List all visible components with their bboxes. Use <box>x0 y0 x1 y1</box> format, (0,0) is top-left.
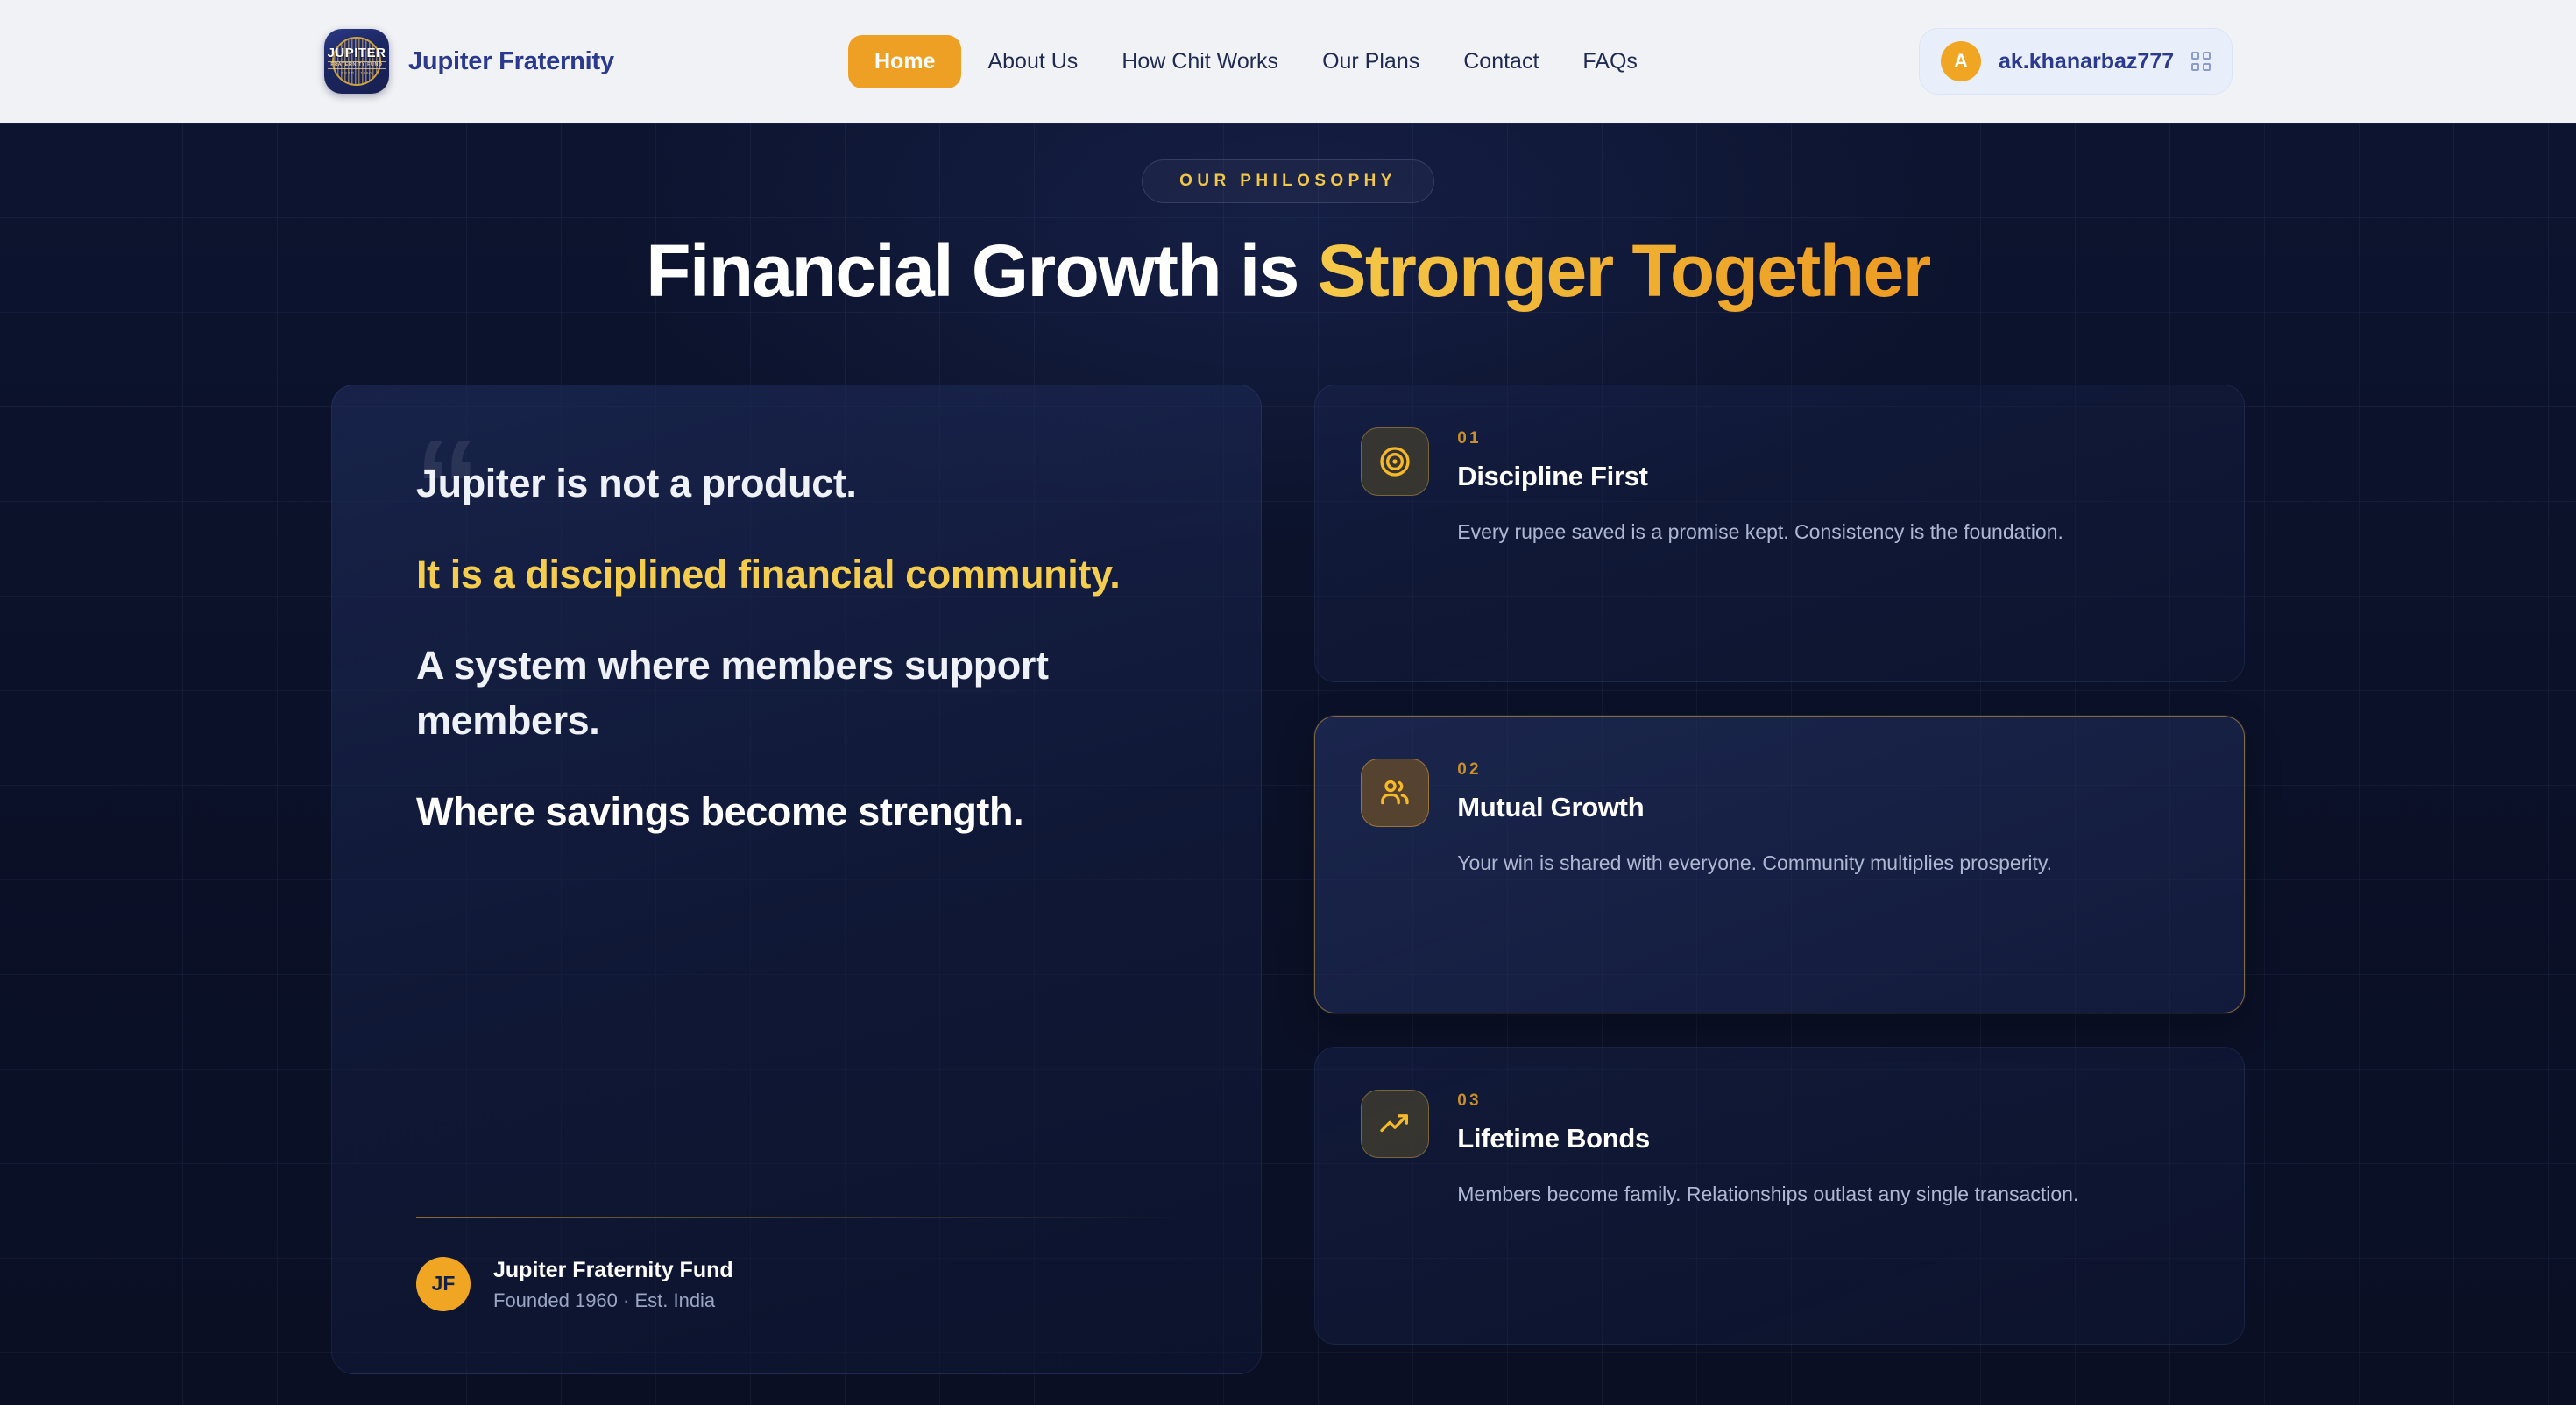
feature-card-lifetime-bonds[interactable]: 03 Lifetime Bonds Members become family.… <box>1314 1047 2245 1345</box>
quote-line-4: Where savings become strength. <box>416 784 1192 840</box>
logo-wordmark: JUPITER FRATERNITY FUND ESTD · 1960 <box>328 46 386 76</box>
site-header: JUPITER FRATERNITY FUND ESTD · 1960 Jupi… <box>0 0 2576 123</box>
user-account-chip[interactable]: A ak.khanarbaz777 <box>1919 28 2233 95</box>
users-icon <box>1361 759 1429 827</box>
quote-line-1: Jupiter is not a product. <box>416 455 1192 512</box>
philosophy-hero-section: OUR PHILOSOPHY Financial Growth is Stron… <box>0 123 2576 1405</box>
fund-name: Jupiter Fraternity Fund <box>493 1256 733 1286</box>
page-title: Financial Growth is Stronger Together <box>0 231 2576 311</box>
feature-card-list: 01 Discipline First Every rupee saved is… <box>1314 385 2245 1345</box>
divider <box>416 1217 1192 1218</box>
feature-description: Your win is shared with everyone. Commun… <box>1457 848 2052 879</box>
feature-title: Discipline First <box>1457 461 2063 492</box>
nav-item-how-chit-works[interactable]: How Chit Works <box>1104 35 1296 88</box>
feature-number: 02 <box>1457 760 2052 780</box>
quote-card: “ Jupiter is not a product. It is a disc… <box>331 385 1262 1374</box>
feature-card-discipline-first[interactable]: 01 Discipline First Every rupee saved is… <box>1314 385 2245 682</box>
fund-meta: Founded 1960 · Est. India <box>493 1289 733 1312</box>
feature-number: 03 <box>1457 1091 2078 1111</box>
feature-number: 01 <box>1457 429 2063 448</box>
nav-item-contact[interactable]: Contact <box>1446 35 1556 88</box>
target-icon <box>1361 427 1429 496</box>
quote-lines: “ Jupiter is not a product. It is a disc… <box>416 455 1192 875</box>
brand-logo-group[interactable]: JUPITER FRATERNITY FUND ESTD · 1960 Jupi… <box>324 29 614 94</box>
nav-item-faqs[interactable]: FAQs <box>1565 35 1655 88</box>
feature-description: Members become family. Relationships out… <box>1457 1179 2078 1210</box>
feature-title: Lifetime Bonds <box>1457 1123 2078 1154</box>
page-title-plain: Financial Growth is <box>646 229 1317 312</box>
trending-up-icon <box>1361 1090 1429 1158</box>
logo-word-text: JUPITER <box>328 46 386 60</box>
feature-title: Mutual Growth <box>1457 792 2052 823</box>
main-navigation: Home About Us How Chit Works Our Plans C… <box>848 35 1655 88</box>
grid-icon[interactable] <box>2191 52 2211 71</box>
avatar: A <box>1941 41 1981 81</box>
logo-subtitle-text: FRATERNITY FUND <box>328 61 385 69</box>
attribution-block: JF Jupiter Fraternity Fund Founded 1960 … <box>416 1256 1192 1312</box>
nav-item-home[interactable]: Home <box>848 35 961 88</box>
username-label: ak.khanarbaz777 <box>1999 49 2174 74</box>
brand-name: Jupiter Fraternity <box>408 47 614 76</box>
page-title-accent: Stronger Together <box>1317 229 1929 312</box>
nav-item-our-plans[interactable]: Our Plans <box>1305 35 1437 88</box>
feature-description: Every rupee saved is a promise kept. Con… <box>1457 517 2063 547</box>
jupiter-logo-icon[interactable]: JUPITER FRATERNITY FUND ESTD · 1960 <box>324 29 389 94</box>
logo-estd-text: ESTD · 1960 <box>341 72 372 76</box>
quote-line-3: A system where members support members. <box>416 638 1192 750</box>
feature-card-mutual-growth[interactable]: 02 Mutual Growth Your win is shared with… <box>1314 716 2245 1013</box>
nav-item-about-us[interactable]: About Us <box>970 35 1095 88</box>
fund-initials-badge: JF <box>416 1257 471 1311</box>
quote-line-2: It is a disciplined financial community. <box>416 547 1192 603</box>
section-eyebrow-badge: OUR PHILOSOPHY <box>1142 159 1434 203</box>
quote-mark-icon: “ <box>414 420 475 552</box>
philosophy-content-grid: “ Jupiter is not a product. It is a disc… <box>0 311 2576 1374</box>
badge-row: OUR PHILOSOPHY <box>0 123 2576 203</box>
